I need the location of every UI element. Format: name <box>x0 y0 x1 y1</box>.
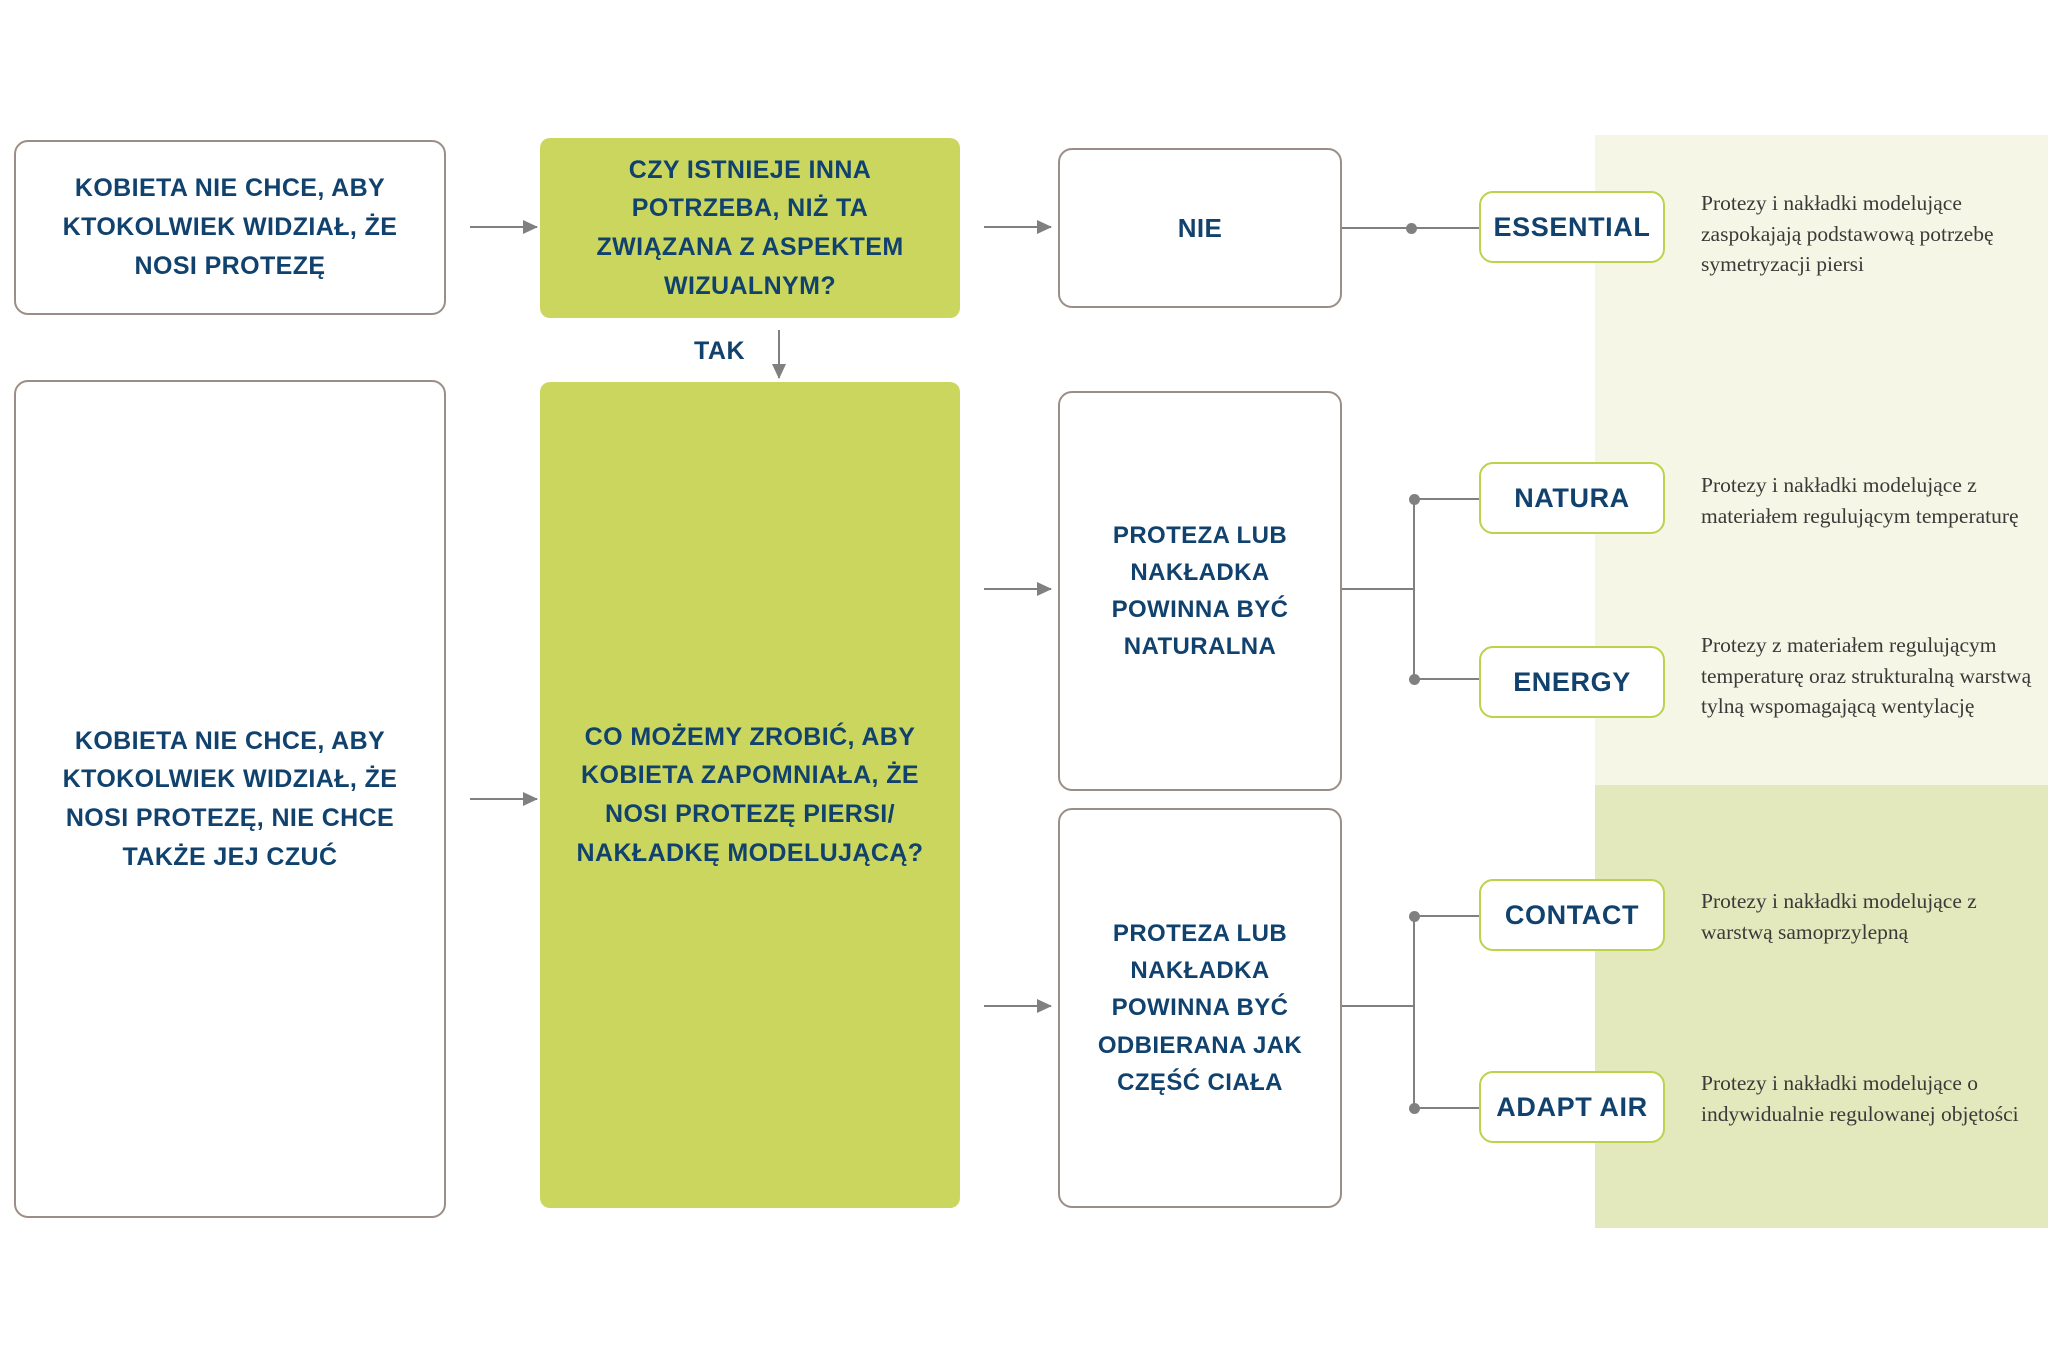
connector-dot-energy <box>1409 674 1420 685</box>
badge-natura[interactable]: NATURA <box>1479 462 1665 534</box>
node-question-bottom[interactable]: CO MOŻEMY ZROBIĆ, ABY KOBIETA ZAPOMNIAŁA… <box>540 382 960 1208</box>
node-outcome-natural-label: PROTEZA LUB NAKŁADKA POWINNA BYĆ NATURAL… <box>1080 517 1320 666</box>
connector-bodypart-stem <box>1342 1005 1415 1007</box>
connector-dot-adapt-air <box>1409 1103 1420 1114</box>
arrow-question-top-to-no <box>984 226 1051 228</box>
background-band-dark <box>1595 785 2048 1228</box>
edge-label-yes: TAK <box>694 337 745 366</box>
connector-natural-stem <box>1342 588 1415 590</box>
connector-natural-to-energy <box>1413 678 1481 680</box>
description-adapt-air: Protezy i nakładki modelujące o indywidu… <box>1701 1068 2026 1129</box>
connector-dot-contact <box>1409 911 1420 922</box>
node-start-bottom[interactable]: KOBIETA NIE CHCE, ABY KTOKOLWIEK WIDZIAŁ… <box>14 380 446 1218</box>
description-energy: Protezy z materiałem regulującym tempera… <box>1701 630 2041 722</box>
description-essential: Protezy i nakładki modelujące zaspokajaj… <box>1701 188 2026 280</box>
badge-essential-label: ESSENTIAL <box>1494 212 1651 243</box>
arrow-start-top-to-question <box>470 226 537 228</box>
node-question-top[interactable]: CZY ISTNIEJE INNA POTRZEBA, NIŻ TA ZWIĄZ… <box>540 138 960 318</box>
node-start-top-label: KOBIETA NIE CHCE, ABY KTOKOLWIEK WIDZIAŁ… <box>50 169 410 285</box>
badge-energy-label: ENERGY <box>1513 667 1631 698</box>
node-question-bottom-label: CO MOŻEMY ZROBIĆ, ABY KOBIETA ZAPOMNIAŁA… <box>558 718 942 873</box>
arrow-start-bottom-to-question <box>470 798 537 800</box>
node-start-top[interactable]: KOBIETA NIE CHCE, ABY KTOKOLWIEK WIDZIAŁ… <box>14 140 446 315</box>
node-outcome-natural[interactable]: PROTEZA LUB NAKŁADKA POWINNA BYĆ NATURAL… <box>1058 391 1342 791</box>
badge-energy[interactable]: ENERGY <box>1479 646 1665 718</box>
badge-adapt-air-label: ADAPT AIR <box>1496 1092 1647 1123</box>
arrow-to-outcome-natural <box>984 588 1051 590</box>
node-start-bottom-label: KOBIETA NIE CHCE, ABY KTOKOLWIEK WIDZIAŁ… <box>42 722 418 877</box>
connector-natural-to-natura <box>1413 498 1481 500</box>
node-outcome-bodypart-label: PROTEZA LUB NAKŁADKA POWINNA BYĆ ODBIERA… <box>1080 915 1320 1101</box>
badge-essential[interactable]: ESSENTIAL <box>1479 191 1665 263</box>
connector-bodypart-to-contact <box>1413 915 1481 917</box>
description-natura: Protezy i nakładki modelujące z materiał… <box>1701 470 2026 531</box>
badge-contact[interactable]: CONTACT <box>1479 879 1665 951</box>
node-answer-no[interactable]: NIE <box>1058 148 1342 308</box>
node-question-top-label: CZY ISTNIEJE INNA POTRZEBA, NIŻ TA ZWIĄZ… <box>562 151 938 306</box>
connector-dot-natura <box>1409 494 1420 505</box>
arrow-to-outcome-bodypart <box>984 1005 1051 1007</box>
connector-dot-essential <box>1406 223 1417 234</box>
flowchart-diagram: KOBIETA NIE CHCE, ABY KTOKOLWIEK WIDZIAŁ… <box>0 0 2048 1365</box>
badge-contact-label: CONTACT <box>1505 900 1639 931</box>
badge-adapt-air[interactable]: ADAPT AIR <box>1479 1071 1665 1143</box>
connector-bodypart-spine <box>1413 915 1415 1107</box>
node-outcome-bodypart[interactable]: PROTEZA LUB NAKŁADKA POWINNA BYĆ ODBIERA… <box>1058 808 1342 1208</box>
arrow-yes-down <box>778 330 780 378</box>
node-answer-no-label: NIE <box>1178 208 1223 248</box>
badge-natura-label: NATURA <box>1514 483 1630 514</box>
connector-bodypart-to-adapt-air <box>1413 1107 1481 1109</box>
description-contact: Protezy i nakładki modelujące z warstwą … <box>1701 886 2031 947</box>
connector-natural-spine <box>1413 498 1415 678</box>
